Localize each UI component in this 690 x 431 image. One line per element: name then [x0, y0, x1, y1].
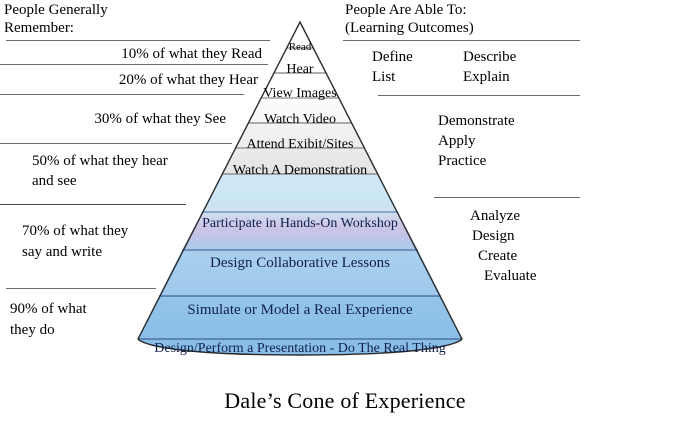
cone-label-design-collaborative-lessons: Design Collaborative Lessons: [170, 256, 430, 271]
right-group2-item1: Demonstrate: [438, 112, 515, 131]
left-rule-20: [0, 94, 244, 95]
right-rule-group1: [378, 95, 580, 96]
right-column-heading-line2: (Learning Outcomes): [345, 20, 474, 37]
cone-label-participate-workshop: Participate in Hands-On Workshop: [170, 216, 430, 231]
cone-label-simulate-model: Simulate or Model a Real Experience: [150, 303, 450, 318]
left-item-90-percent-line2: they do: [10, 321, 55, 339]
left-rule-50: [0, 204, 186, 205]
dales-cone-figure: People Generally Remember: People Are Ab…: [0, 0, 690, 431]
right-group1-col1-item1: Define: [372, 48, 413, 67]
left-item-70-percent-line1: 70% of what they: [22, 222, 128, 240]
left-rule-30: [0, 143, 232, 144]
cone-label-design-perform-presentation: Design/Perform a Presentation - Do The R…: [110, 341, 490, 356]
left-item-50-percent-line2: and see: [32, 172, 77, 190]
right-group1-col2-item1: Describe: [463, 48, 516, 67]
left-item-30-percent: 30% of what they See: [0, 110, 226, 128]
left-column-heading-line1: People Generally: [4, 2, 108, 19]
right-column-heading-line1: People Are Able To:: [345, 2, 467, 19]
left-item-20-percent: 20% of what they Hear: [0, 71, 258, 89]
left-rule-70: [6, 288, 156, 289]
cone-label-hear: Hear: [250, 62, 350, 77]
right-group3-item3: Create: [478, 247, 517, 266]
cone-label-watch-video: Watch Video: [230, 112, 370, 127]
cone-band-participate-workshop: [202, 174, 398, 212]
right-rule-top: [343, 40, 580, 41]
cone-label-read: Read: [255, 40, 345, 55]
right-group2-item2: Apply: [438, 132, 476, 151]
left-item-90-percent-line1: 90% of what: [10, 300, 87, 318]
cone-dividers-lower: [138, 212, 462, 339]
left-item-70-percent-line2: say and write: [22, 243, 102, 261]
left-rule-top: [6, 40, 270, 41]
right-group2-item3: Practice: [438, 152, 486, 171]
right-group3-item4: Evaluate: [484, 267, 536, 286]
left-item-50-percent-line1: 50% of what they hear: [32, 152, 168, 170]
left-column-heading-line2: Remember:: [4, 20, 74, 37]
left-rule-10: [0, 64, 268, 65]
figure-title: Dale’s Cone of Experience: [0, 388, 690, 414]
right-group1-col1-item2: List: [372, 68, 395, 87]
left-item-10-percent: 10% of what they Read: [0, 45, 262, 63]
cone-label-view-images: View Images: [230, 86, 370, 101]
right-group1-col2-item2: Explain: [463, 68, 510, 87]
right-group3-item1: Analyze: [470, 207, 520, 226]
cone-label-attend-exhibit: Attend Exibit/Sites: [210, 137, 390, 152]
cone-label-watch-demonstration: Watch A Demonstration: [190, 163, 410, 178]
right-group3-item2: Design: [472, 227, 515, 246]
right-rule-group2: [434, 197, 580, 198]
